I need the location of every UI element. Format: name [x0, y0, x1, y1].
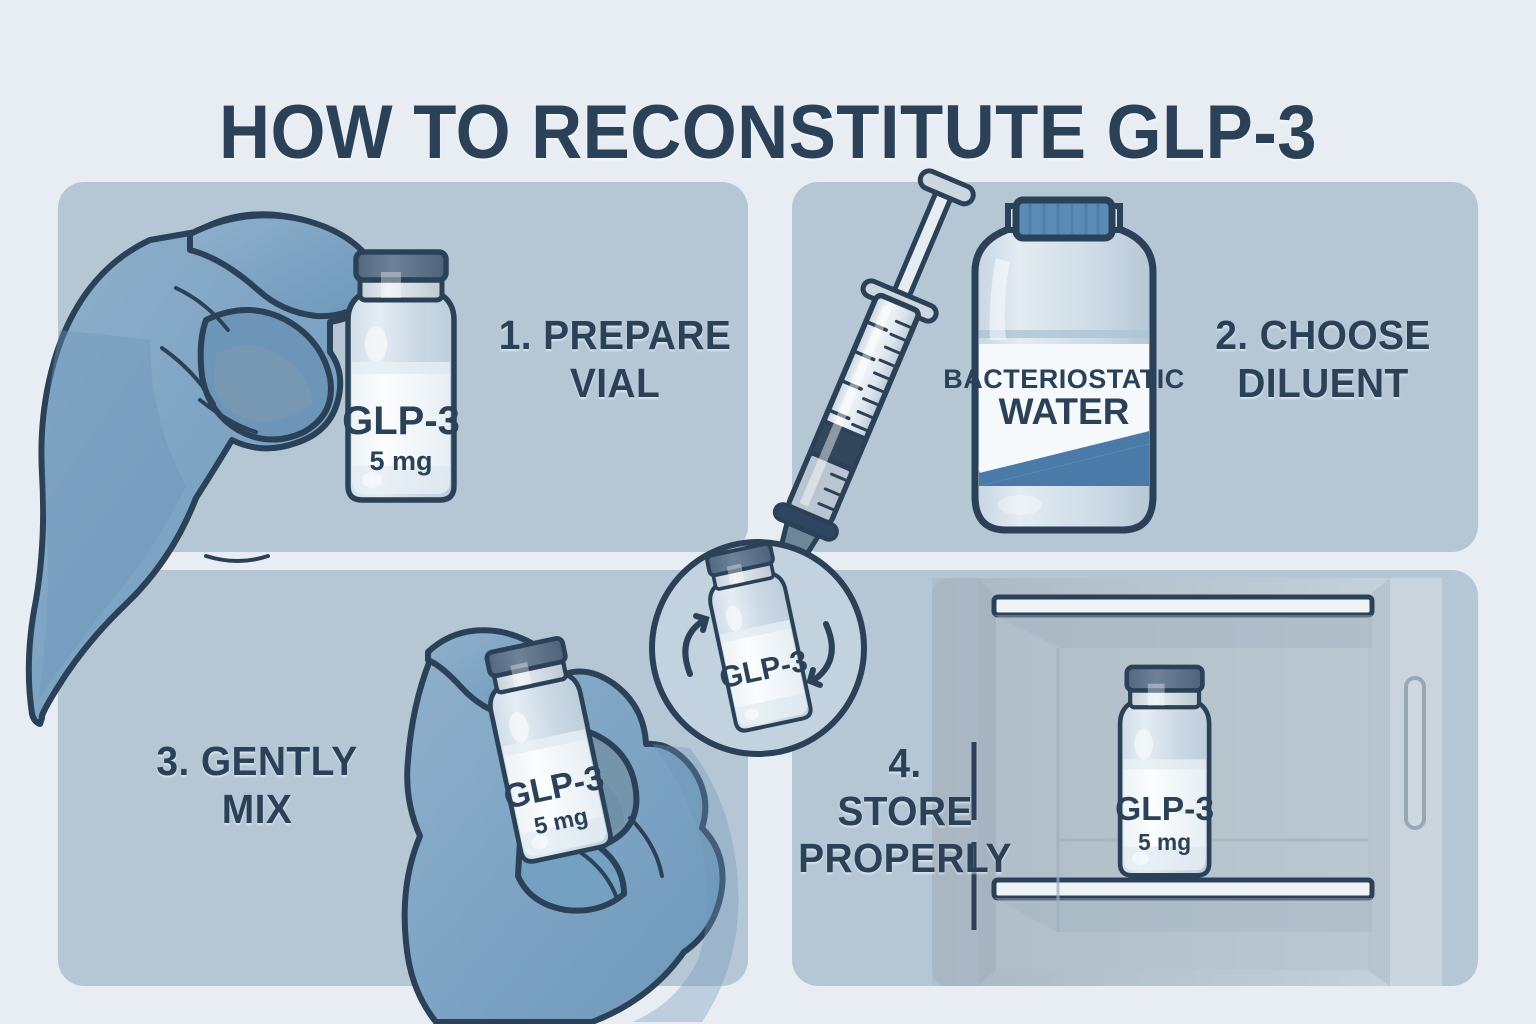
page-title: HOW TO RECONSTITUTE GLP-3: [54, 95, 1482, 171]
step-4-caption: 4. STORE PROPERLY: [796, 740, 1015, 883]
step-1-caption: 1. PREPARE VIAL: [477, 312, 753, 407]
step-3-caption: 3. GENTLY MIX: [119, 738, 395, 833]
step-2-caption: 2. CHOOSE DILUENT: [1185, 312, 1461, 407]
